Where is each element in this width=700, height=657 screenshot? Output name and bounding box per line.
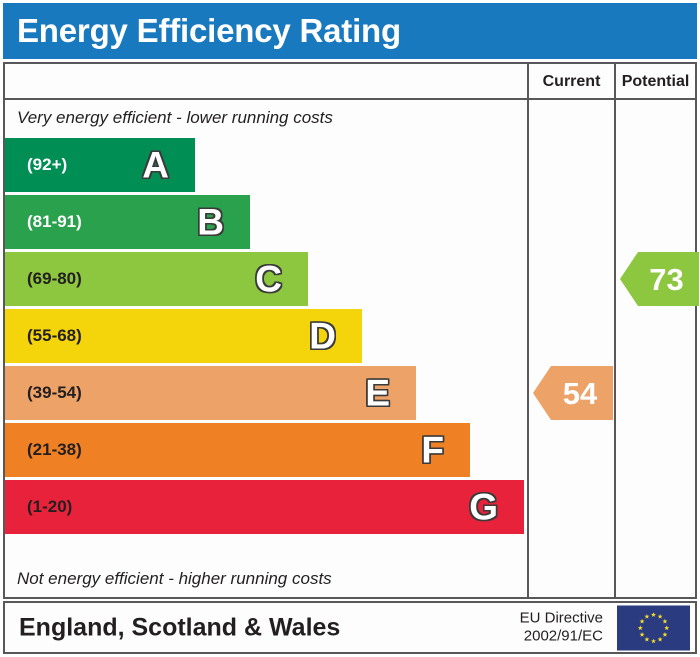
- column-divider-potential: [614, 64, 616, 597]
- chart-title-bar: Energy Efficiency Rating: [3, 3, 697, 59]
- band-letter-f: F: [421, 432, 444, 469]
- directive-line-1: EU Directive: [520, 609, 603, 628]
- band-range-e: (39-54): [27, 383, 82, 403]
- band-range-b: (81-91): [27, 212, 82, 232]
- column-header-row: Current Potential: [5, 64, 695, 100]
- band-bar-d: (55-68)D: [5, 309, 362, 363]
- column-header-potential: Potential: [616, 73, 695, 91]
- band-range-d: (55-68): [27, 326, 82, 346]
- column-divider-current: [527, 64, 529, 597]
- band-range-g: (1-20): [27, 497, 72, 517]
- band-letter-g: G: [469, 489, 498, 526]
- eu-flag-icon: [617, 605, 690, 650]
- rating-badge-potential: 73: [620, 252, 699, 306]
- footer-directive: EU Directive 2002/91/EC: [520, 609, 603, 647]
- band-bar-a: (92+)A: [5, 138, 195, 192]
- band-bar-c: (69-80)C: [5, 252, 308, 306]
- band-bar-b: (81-91)B: [5, 195, 250, 249]
- band-range-f: (21-38): [27, 440, 82, 460]
- band-letter-d: D: [309, 318, 336, 355]
- chart-footer: England, Scotland & Wales EU Directive 2…: [3, 601, 697, 654]
- rating-badge-current: 54: [533, 366, 613, 420]
- band-bar-g: (1-20)G: [5, 480, 524, 534]
- chart-bands-area: Very energy efficient - lower running co…: [5, 100, 525, 597]
- directive-line-2: 2002/91/EC: [520, 628, 603, 647]
- band-letter-a: A: [142, 147, 169, 184]
- footer-region-label: England, Scotland & Wales: [19, 613, 340, 642]
- page-title: Energy Efficiency Rating: [17, 12, 401, 50]
- band-bar-list: (92+)A(81-91)B(69-80)C(55-68)D(39-54)E(2…: [5, 138, 525, 537]
- band-range-c: (69-80): [27, 269, 82, 289]
- band-letter-b: B: [197, 204, 224, 241]
- chart-grid: Current Potential Very energy efficient …: [3, 62, 697, 599]
- band-letter-e: E: [365, 375, 390, 412]
- caption-not-efficient: Not energy efficient - higher running co…: [17, 569, 332, 589]
- column-header-current: Current: [529, 73, 614, 91]
- energy-efficiency-rating-chart: Energy Efficiency Rating Current Potenti…: [0, 0, 700, 657]
- band-letter-c: C: [255, 261, 282, 298]
- caption-efficient: Very energy efficient - lower running co…: [17, 108, 333, 128]
- band-bar-e: (39-54)E: [5, 366, 416, 420]
- band-range-a: (92+): [27, 155, 67, 175]
- rating-value-current: 54: [549, 378, 597, 409]
- band-bar-f: (21-38)F: [5, 423, 470, 477]
- rating-value-potential: 73: [635, 264, 683, 295]
